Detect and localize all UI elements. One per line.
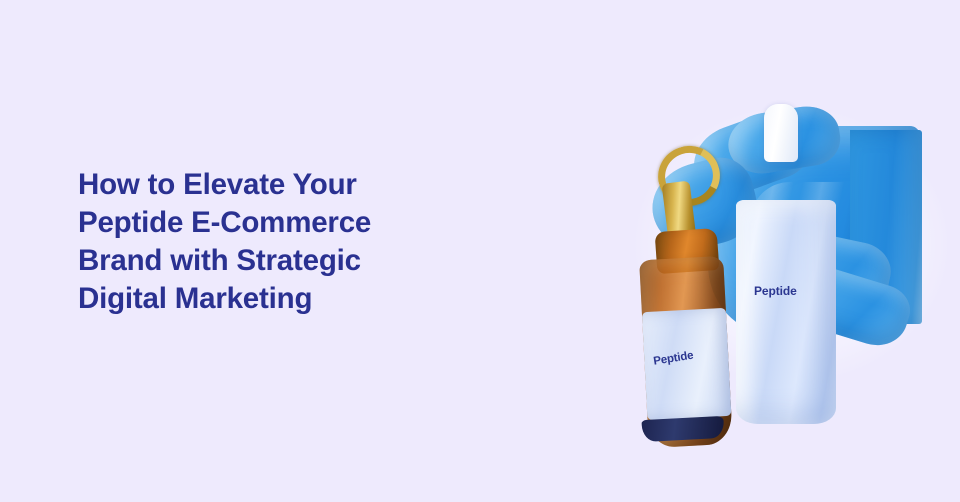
hero-product-image: Peptide Peptide Blue-gloved hand holding… (600, 86, 960, 416)
amber-bottle-label: Peptide (642, 308, 732, 420)
white-bottle-cap (764, 104, 798, 162)
amber-bottle-label-text: Peptide (653, 350, 695, 368)
white-peptide-bottle: Peptide (730, 104, 840, 426)
white-bottle-body (736, 200, 836, 424)
amber-peptide-bottle: Peptide (640, 146, 730, 446)
page-title: How to Elevate Your Peptide E-Commerce B… (78, 166, 438, 318)
article-header-banner: How to Elevate Your Peptide E-Commerce B… (0, 0, 960, 502)
amber-bottle-base (641, 416, 724, 442)
white-bottle-label: Peptide (754, 284, 797, 298)
headline-block: How to Elevate Your Peptide E-Commerce B… (78, 166, 438, 318)
